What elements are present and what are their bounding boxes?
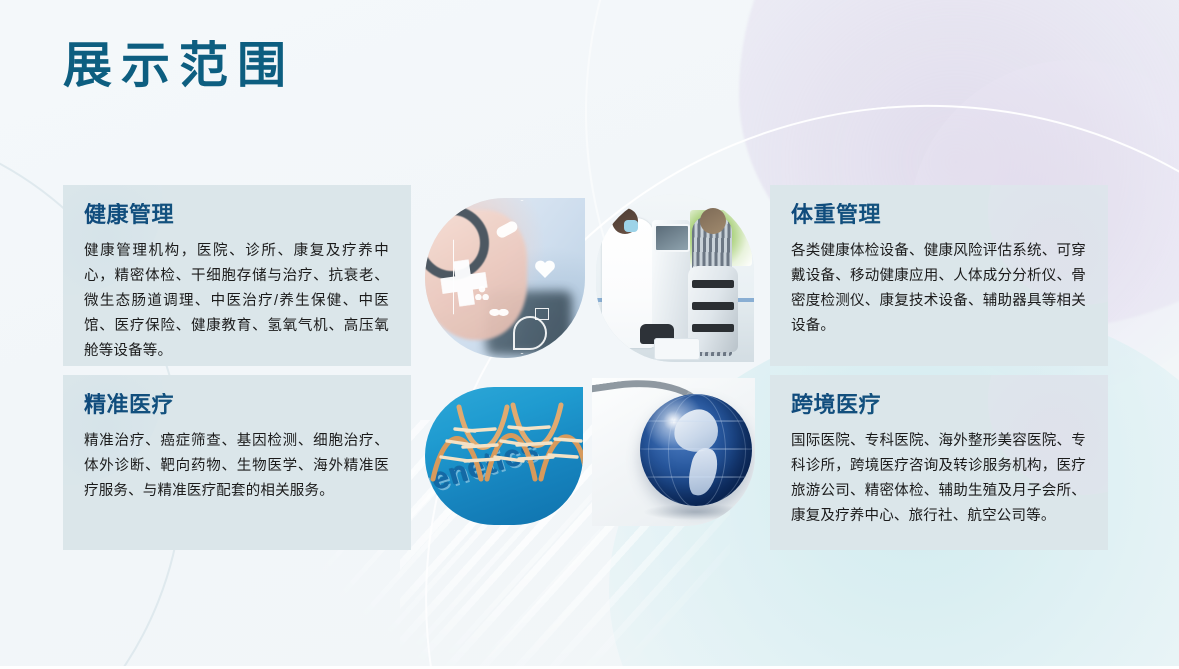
card-title: 精准医疗 bbox=[84, 393, 389, 417]
machine-screen bbox=[654, 224, 690, 252]
card-body: 健康管理机构，医院、诊所、康复及疗养中心，精密体检、干细胞存储与治疗、抗衰老、微… bbox=[84, 239, 389, 364]
card-body: 各类健康体检设备、健康风险评估系统、可穿戴设备、移动健康应用、人体成分分析仪、骨… bbox=[791, 239, 1086, 339]
card-body: 精准治疗、癌症筛查、基因检测、细胞治疗、体外诊断、靶向药物、生物医学、海外精准医… bbox=[84, 429, 389, 504]
tooth-icon bbox=[489, 306, 509, 322]
photo-globe-stethoscope bbox=[592, 378, 755, 526]
patient-head bbox=[700, 208, 726, 234]
globe-icon bbox=[640, 394, 752, 506]
stethoscope-icon bbox=[513, 316, 547, 350]
photo-rehab-robot-image bbox=[596, 194, 754, 362]
photo-medical-hand-icons bbox=[425, 198, 585, 358]
dna-helix-icon bbox=[429, 391, 583, 487]
people-group-icon bbox=[475, 286, 489, 300]
photo-rehab-robot-training bbox=[596, 194, 754, 362]
face-mask-icon bbox=[624, 220, 638, 232]
photo-medical-hand-icons-image bbox=[425, 198, 585, 358]
monitor-icon bbox=[535, 308, 549, 320]
card-health-management[interactable]: 健康管理 健康管理机构，医院、诊所、康复及疗养中心，精密体检、干细胞存储与治疗、… bbox=[63, 185, 411, 366]
card-cross-border-medical[interactable]: 跨境医疗 国际医院、专科医院、海外整形美容医院、专科诊所，跨境医疗咨询及转诊服务… bbox=[770, 375, 1108, 550]
photo-dna-genetics: genetics bbox=[425, 387, 583, 525]
card-precision-medicine[interactable]: 精准医疗 精准治疗、癌症筛查、基因检测、细胞治疗、体外诊断、靶向药物、生物医学、… bbox=[63, 375, 411, 550]
slide-canvas: 展示范围 健康管理 健康管理机构，医院、诊所、康复及疗养中心，精密体检、干细胞存… bbox=[0, 0, 1179, 669]
globe-longitude-line bbox=[648, 394, 746, 506]
card-title: 体重管理 bbox=[791, 203, 1086, 227]
page-title: 展示范围 bbox=[63, 42, 295, 91]
card-title: 健康管理 bbox=[84, 203, 389, 227]
card-title: 跨境医疗 bbox=[791, 393, 1086, 417]
exoskeleton-strap bbox=[692, 324, 734, 332]
card-weight-management[interactable]: 体重管理 各类健康体检设备、健康风险评估系统、可穿戴设备、移动健康应用、人体成分… bbox=[770, 185, 1108, 366]
exoskeleton-strap bbox=[692, 302, 734, 310]
photo-dna-genetics-image: genetics bbox=[425, 387, 583, 525]
card-body: 国际医院、专科医院、海外整形美容医院、专科诊所，跨境医疗咨询及转诊服务机构，医疗… bbox=[791, 429, 1086, 529]
equipment-bin bbox=[654, 338, 700, 360]
photo-globe-stethoscope-image bbox=[592, 378, 755, 526]
globe-shadow bbox=[644, 504, 748, 520]
exoskeleton-strap bbox=[692, 280, 734, 288]
